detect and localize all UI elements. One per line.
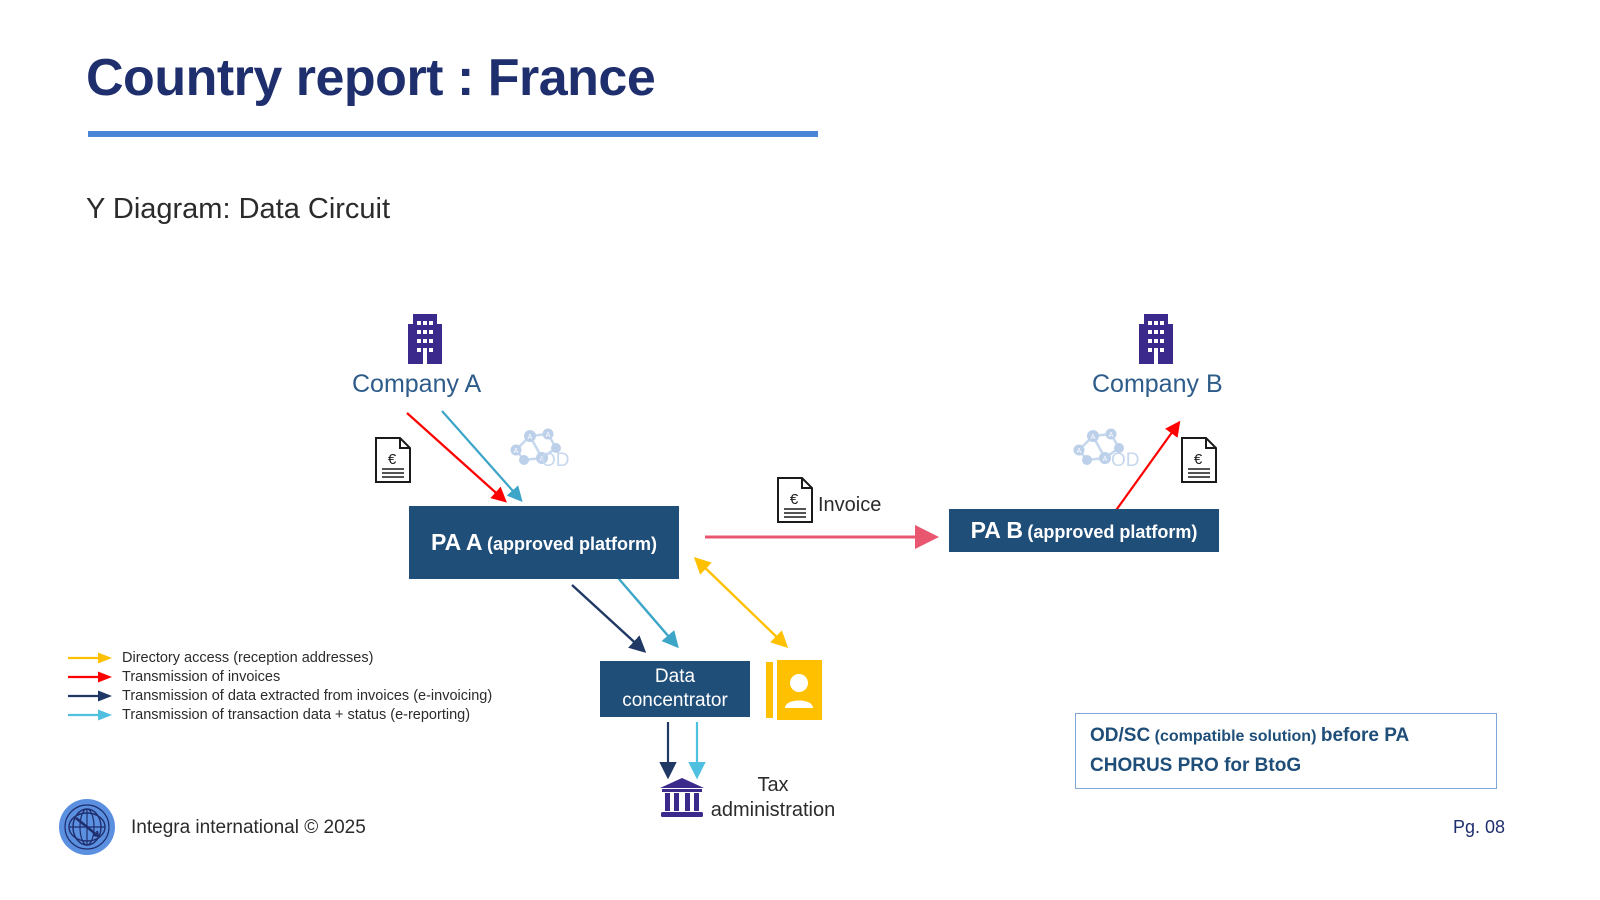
legend-item-einvoicing: Transmission of data extracted from invo… [68,686,492,705]
arrow-pa-a-to-concentrator-ereporting [613,572,676,645]
svg-text:A: A [1077,448,1082,455]
svg-text:A: A [1091,434,1096,441]
office-building-icon [1139,314,1173,364]
legend-item-directory-access: Directory access (reception addresses) [68,648,492,667]
legend-arrow-cyan-icon [68,708,114,722]
svg-text:€: € [1194,451,1203,468]
invoice-document-euro-icon: € [375,437,411,483]
classical-building-icon [660,778,704,818]
data-concentrator-node[interactable]: Data concentrator [600,661,750,717]
tax-administration-label: Tax administration [708,773,838,823]
od-label-b: OD [1111,450,1140,472]
tax-label-line1: Tax [757,774,788,796]
callout-line-1: OD/SC (compatible solution) before PA [1090,725,1482,747]
invoice-document-euro-icon: € [1181,437,1217,483]
tax-label-line2: administration [711,799,836,821]
pa-a-node[interactable]: PA A (approved platform) [409,506,679,579]
company-b-label: Company B [1092,370,1223,399]
pa-b-node[interactable]: PA B (approved platform) [949,509,1219,552]
page-subtitle: Y Diagram: Data Circuit [86,193,390,226]
pa-b-title: PA B [971,517,1023,543]
legend-item-ereporting: Transmission of transaction data + statu… [68,705,492,724]
office-building-icon [408,314,442,364]
arrow-company-a-invoice [407,413,504,500]
pa-a-title: PA A [431,529,483,555]
svg-text:A: A [528,434,533,441]
svg-text:€: € [388,451,397,468]
invoice-document-euro-icon: € [777,477,813,523]
footer-copyright: Integra international © 2025 [131,817,366,839]
callout-line-2: CHORUS PRO for BtoG [1090,755,1482,777]
data-concentrator-line1: Data [655,665,695,689]
svg-text:A: A [1109,432,1114,439]
svg-text:A: A [546,432,551,439]
company-a-label: Company A [352,370,481,399]
callout-od-sc: OD/SC [1090,725,1150,746]
data-concentrator-line2: concentrator [622,689,728,713]
legend-arrow-navy-icon [68,689,114,703]
page-number: Pg. 08 [1453,817,1505,838]
svg-text:A: A [1103,456,1108,463]
pa-a-subtitle: (approved platform) [487,534,657,554]
title-underline-rule [88,131,818,137]
slide-canvas: Country report : France Y Diagram: Data … [0,0,1600,900]
legend: Directory access (reception addresses) T… [68,648,492,724]
arrow-pa-a-directory-double [697,560,785,645]
svg-text:€: € [790,491,799,508]
arrow-pa-a-to-concentrator-einvoicing [572,585,643,650]
invoice-label: Invoice [818,494,881,517]
callout-box: OD/SC (compatible solution) before PA CH… [1075,713,1497,789]
legend-item-transmission-invoices: Transmission of invoices [68,667,492,686]
svg-text:A: A [514,448,519,455]
page-title: Country report : France [86,48,655,108]
legend-label: Transmission of invoices [122,669,280,685]
pa-b-subtitle: (approved platform) [1027,522,1197,542]
callout-before-pa: before PA [1321,725,1409,746]
legend-label: Transmission of data extracted from invo… [122,688,492,704]
legend-label: Transmission of transaction data + statu… [122,707,470,723]
od-label-a: OD [541,450,570,472]
integra-international-logo [58,798,116,856]
legend-label: Directory access (reception addresses) [122,650,373,666]
callout-compatible-solution: (compatible solution) [1150,728,1321,745]
legend-arrow-red-icon [68,670,114,684]
address-book-icon [766,660,822,720]
legend-arrow-yellow-icon [68,651,114,665]
